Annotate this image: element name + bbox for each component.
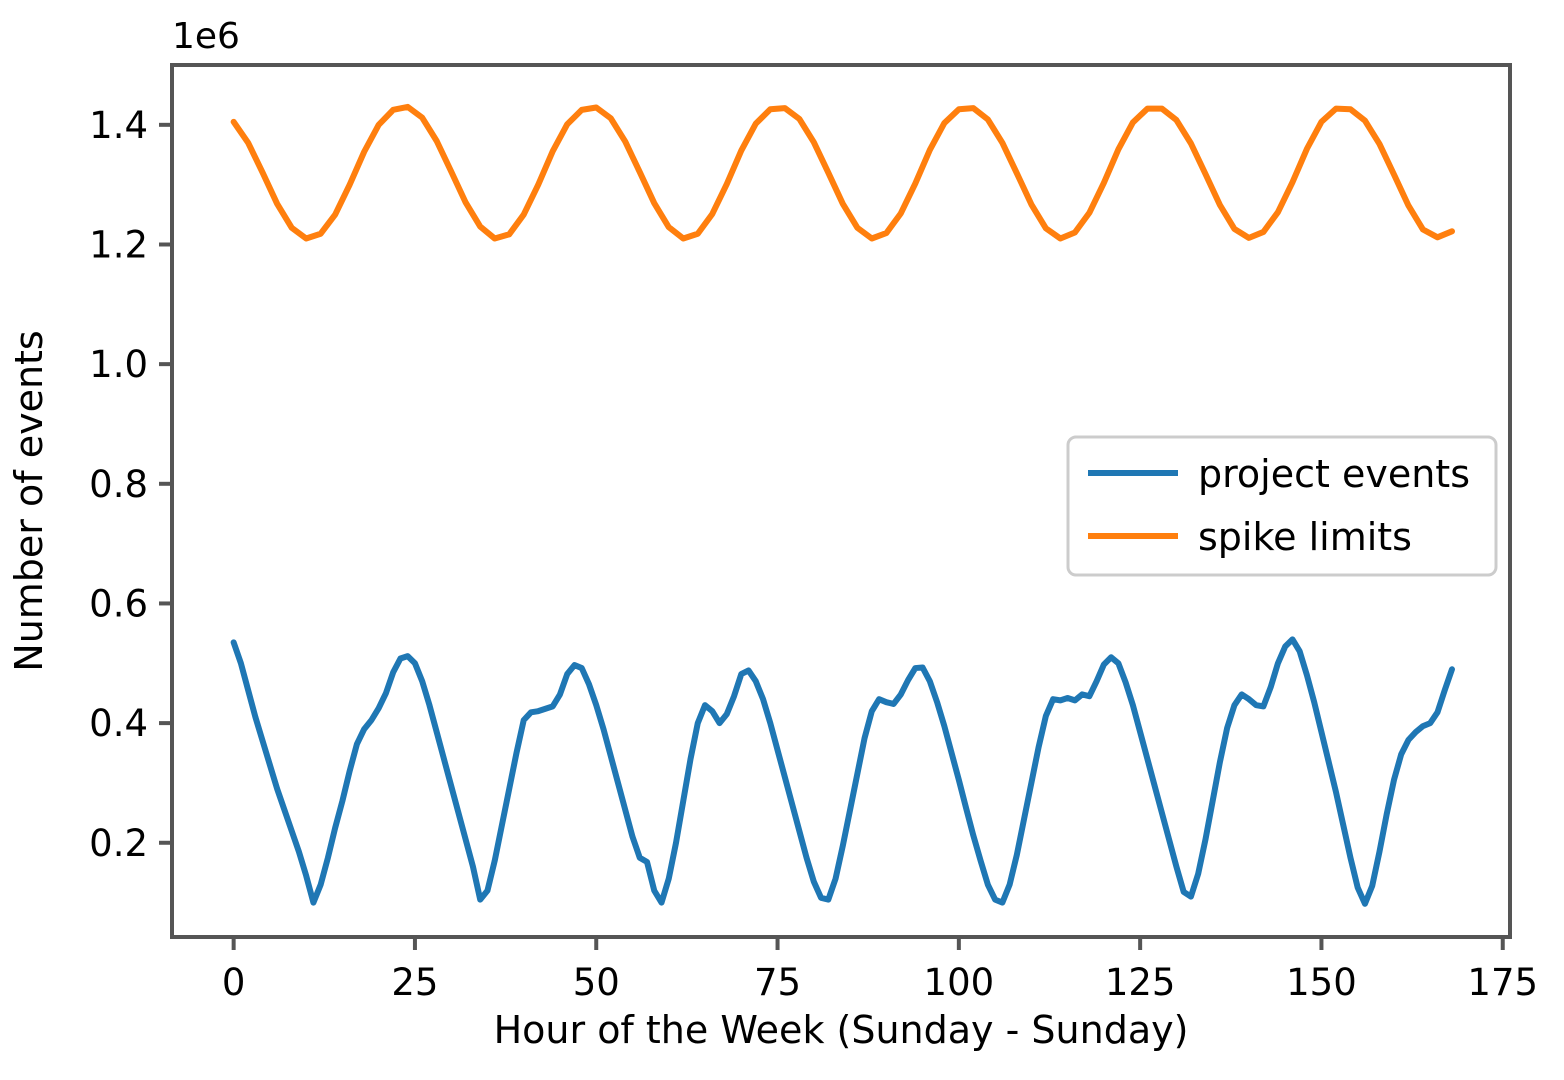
x-axis-title: Hour of the Week (Sunday - Sunday) (494, 1008, 1189, 1052)
x-tick-label-50: 50 (573, 961, 620, 1004)
x-tick-label-125: 125 (1105, 961, 1176, 1004)
x-tick-label-175: 175 (1467, 961, 1538, 1004)
x-tick-label-0: 0 (222, 961, 246, 1004)
legend-label-project-events: project events (1198, 452, 1470, 496)
y-tick-label-1.4: 1.4 (89, 104, 148, 147)
y-tick-label-1.2: 1.2 (89, 223, 148, 266)
x-tick-label-100: 100 (924, 961, 995, 1004)
x-tick-label-150: 150 (1286, 961, 1357, 1004)
x-tick-label-25: 25 (391, 961, 438, 1004)
x-tick-label-75: 75 (754, 961, 801, 1004)
chart-svg: 02550751001251501750.20.40.60.81.01.21.4… (0, 0, 1564, 1080)
y-axis-offset-text: 1e6 (172, 16, 240, 57)
y-tick-label-0.2: 0.2 (89, 822, 148, 865)
y-tick-label-1.0: 1.0 (89, 343, 148, 386)
y-tick-label-0.8: 0.8 (89, 463, 148, 506)
chart-legend[interactable]: project eventsspike limits (1068, 437, 1496, 575)
y-axis-title: Number of events (7, 330, 51, 671)
legend-label-spike-limits: spike limits (1198, 515, 1412, 559)
figure-canvas: 02550751001251501750.20.40.60.81.01.21.4… (0, 0, 1564, 1080)
y-tick-label-0.4: 0.4 (89, 702, 148, 745)
y-tick-label-0.6: 0.6 (89, 582, 148, 625)
